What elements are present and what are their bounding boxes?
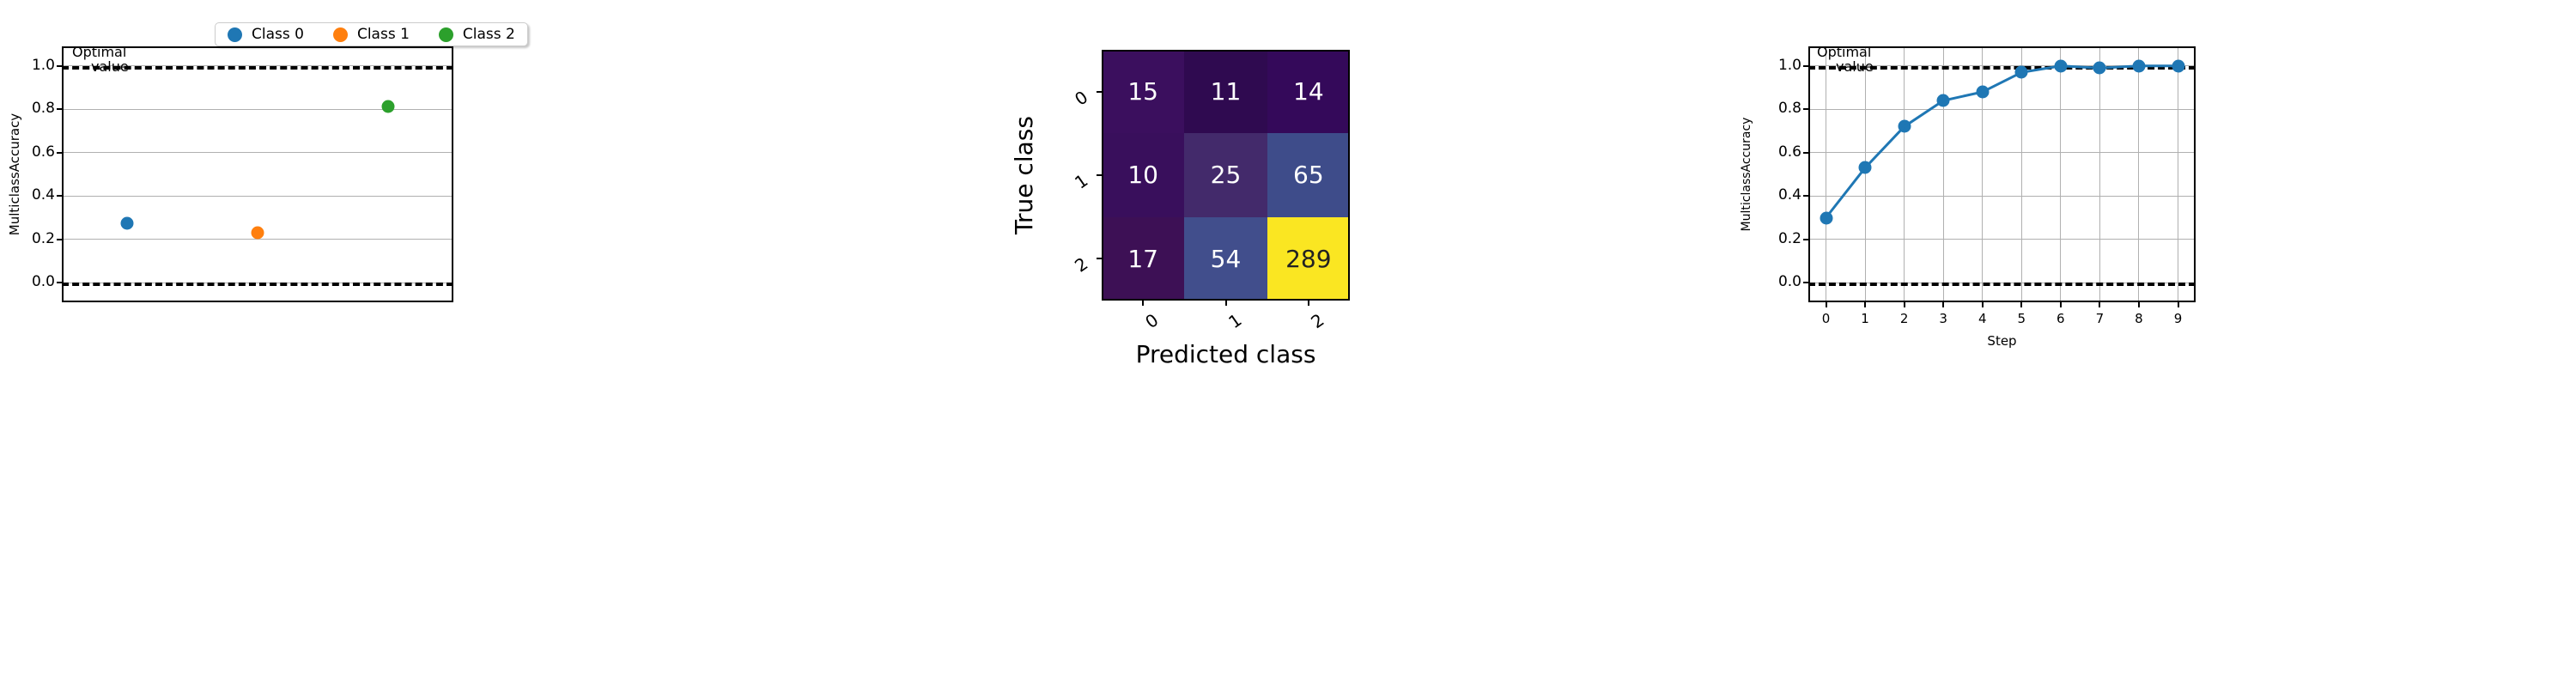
confusion-cell-value: 14 (1293, 77, 1324, 106)
ytick-mark-0.4 (57, 195, 62, 197)
ytick-label-0.8: 0.8 (1759, 100, 1801, 117)
ylabel-panel3: MulticlassAccuracy (1740, 118, 1753, 232)
xtick-mark-7 (2099, 302, 2100, 307)
xtick-label-5: 5 (2008, 311, 2034, 326)
ytick-label-0.4: 0.4 (1759, 186, 1801, 204)
ytick-label-0.6: 0.6 (1759, 143, 1801, 161)
confusion-cell-0-1: 11 (1184, 50, 1267, 133)
xtick-mark-6 (2060, 302, 2062, 307)
ytick-mark-0.4 (1803, 195, 1808, 197)
ytick-mark-row-0 (1097, 91, 1102, 93)
legend-item-2[interactable]: Class 2 (439, 26, 515, 43)
xtick-mark-2 (1904, 302, 1905, 307)
legend-item-0[interactable]: Class 0 (228, 26, 304, 43)
ytick-label-1.0: 1.0 (1759, 57, 1801, 74)
confusion-cell-value: 17 (1127, 245, 1158, 273)
ytick-mark-1.0 (1803, 65, 1808, 67)
ytick-mark-0.0 (57, 282, 62, 283)
xtick-label-3: 3 (1930, 311, 1956, 326)
xtick-label-2: 2 (1892, 311, 1917, 326)
ytick-mark-0.2 (1803, 239, 1808, 240)
legend-label-0: Class 0 (252, 26, 304, 43)
optimal-value-annotation: Optimalvalue (72, 46, 129, 75)
xtick-label-col-2: 2 (1299, 304, 1335, 337)
confusion-cell-value: 65 (1293, 161, 1324, 189)
panel-per-class-accuracy (62, 46, 453, 302)
ytick-mark-0.2 (57, 239, 62, 240)
confusion-cell-value: 289 (1285, 245, 1331, 273)
annotation-line-1: Optimal (1817, 46, 1874, 60)
axes-frame-panel1 (62, 46, 453, 302)
annotation-line-1: Optimal (72, 46, 129, 60)
confusion-cell-value: 10 (1127, 161, 1158, 189)
xtick-label-4: 4 (1970, 311, 1996, 326)
confusion-cell-value: 11 (1211, 77, 1242, 106)
ytick-mark-row-2 (1097, 258, 1102, 259)
ytick-label-0.2: 0.2 (1759, 230, 1801, 247)
panel-accuracy-vs-step (1808, 46, 2196, 302)
ylabel-panel2: True class (1010, 116, 1038, 234)
ytick-mark-0.0 (1803, 282, 1808, 283)
optimal-value-annotation: Optimalvalue (1817, 46, 1874, 75)
xtick-mark-col-1 (1225, 301, 1227, 306)
xtick-mark-9 (2178, 302, 2179, 307)
confusion-cell-2-1: 54 (1184, 217, 1267, 301)
xtick-label-col-0: 0 (1134, 304, 1170, 337)
xtick-mark-8 (2138, 302, 2140, 307)
ytick-mark-0.8 (57, 108, 62, 110)
axes-frame-panel3 (1808, 46, 2196, 302)
annotation-line-2: value (72, 60, 129, 75)
xlabel-panel3: Step (1987, 333, 2016, 349)
ytick-mark-0.8 (1803, 108, 1808, 110)
ytick-mark-row-1 (1097, 174, 1102, 176)
confusion-cell-0-0: 15 (1102, 50, 1184, 133)
xtick-mark-3 (1942, 302, 1944, 307)
legend-item-1[interactable]: Class 1 (333, 26, 410, 43)
ytick-label-row-2: 2 (1056, 253, 1092, 287)
confusion-cell-1-2: 65 (1267, 133, 1350, 216)
confusion-cell-value: 25 (1211, 161, 1242, 189)
xlabel-panel2: Predicted class (1136, 340, 1316, 368)
xtick-mark-1 (1864, 302, 1866, 307)
legend-marker-1 (333, 27, 348, 42)
legend-label-1: Class 1 (357, 26, 410, 43)
xtick-label-0: 0 (1814, 311, 1839, 326)
confusion-matrix-grid: 1511141025651754289 (1102, 50, 1350, 301)
xtick-mark-col-0 (1142, 301, 1144, 306)
ytick-label-0.0: 0.0 (1759, 273, 1801, 290)
confusion-cell-1-0: 10 (1102, 133, 1184, 216)
ytick-label-row-1: 1 (1056, 170, 1092, 204)
legend-marker-2 (439, 27, 453, 42)
ylabel-panel1: MulticlassAccuracy (7, 113, 22, 235)
xtick-label-col-1: 1 (1217, 304, 1253, 337)
confusion-cell-value: 15 (1127, 77, 1158, 106)
legend-marker-0 (228, 27, 242, 42)
confusion-cell-2-2: 289 (1267, 217, 1350, 301)
ytick-mark-0.6 (57, 152, 62, 154)
xtick-mark-0 (1826, 302, 1827, 307)
annotation-line-2: value (1817, 60, 1874, 75)
legend[interactable]: Class 0Class 1Class 2 (215, 22, 528, 46)
xtick-label-9: 9 (2166, 311, 2191, 326)
xtick-label-8: 8 (2126, 311, 2152, 326)
ytick-mark-0.6 (1803, 152, 1808, 154)
panel-confusion-matrix: 1511141025651754289 (1102, 50, 1350, 301)
xtick-label-6: 6 (2048, 311, 2074, 326)
confusion-cell-value: 54 (1211, 245, 1242, 273)
xtick-mark-5 (2020, 302, 2022, 307)
figure-canvas: 0.00.20.40.60.81.0OptimalvalueMulticlass… (0, 0, 2576, 687)
ytick-label-row-0: 0 (1056, 86, 1092, 119)
xtick-label-1: 1 (1852, 311, 1878, 326)
ytick-mark-1.0 (57, 65, 62, 67)
legend-label-2: Class 2 (463, 26, 515, 43)
xtick-label-7: 7 (2087, 311, 2112, 326)
xtick-mark-col-2 (1308, 301, 1309, 306)
confusion-cell-2-0: 17 (1102, 217, 1184, 301)
ytick-label-1.0: 1.0 (10, 57, 55, 74)
xtick-mark-4 (1982, 302, 1984, 307)
ytick-label-0.0: 0.0 (10, 273, 55, 290)
confusion-cell-0-2: 14 (1267, 50, 1350, 133)
confusion-cell-1-1: 25 (1184, 133, 1267, 216)
